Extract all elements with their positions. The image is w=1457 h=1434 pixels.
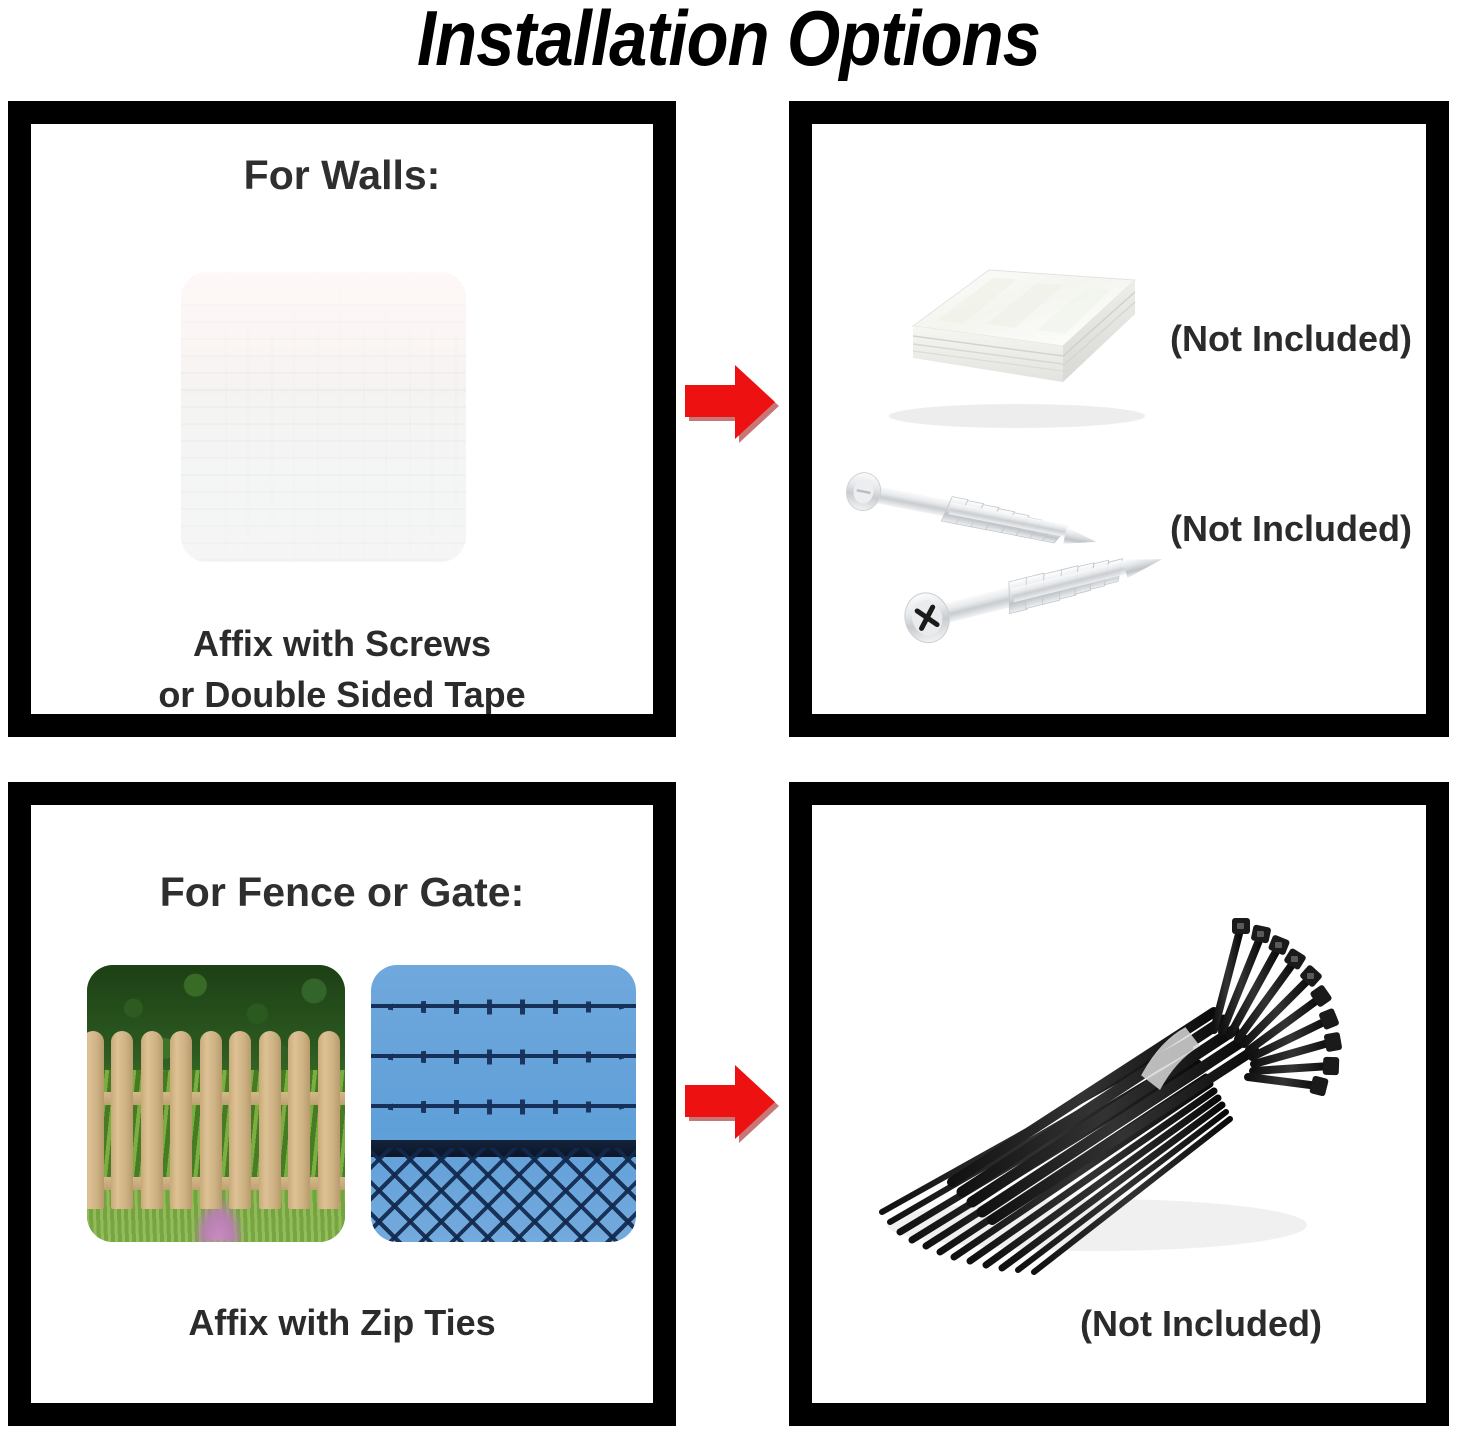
- wooden-picket-fence-photo: [87, 965, 345, 1242]
- panel-fence-hardware: (Not Included): [789, 782, 1449, 1426]
- zip-ties-bundle-image: [842, 880, 1362, 1280]
- panel-for-walls-heading: For Walls:: [31, 152, 653, 199]
- zipties-not-included-label: (Not Included): [1080, 1303, 1322, 1345]
- panel-wall-hardware: (Not Included): [789, 101, 1449, 737]
- panel-for-fence-caption: Affix with Zip Ties: [31, 1297, 653, 1348]
- page-title: Installation Options: [87, 0, 1369, 82]
- infographic-root: Installation Options For Walls: Affix wi…: [0, 0, 1457, 1434]
- panel-for-fence-heading: For Fence or Gate:: [31, 869, 653, 916]
- red-right-arrow-icon-bottom: [685, 1065, 783, 1147]
- tape-not-included-label: (Not Included): [1170, 318, 1412, 360]
- panel-for-walls-caption-line-2: or Double Sided Tape: [31, 669, 653, 714]
- red-right-arrow-icon-top: [685, 365, 783, 447]
- screws-not-included-label: (Not Included): [1170, 508, 1412, 550]
- panel-for-fence-or-gate: For Fence or Gate:: [8, 782, 676, 1426]
- barbed-wire-chain-link-photo: [371, 965, 636, 1242]
- wood-screws-image: [830, 449, 1170, 679]
- panel-for-walls-caption-line-1: Affix with Screws: [31, 618, 653, 669]
- white-brick-wall-photo: [181, 272, 466, 562]
- double-sided-tape-stack-image: [867, 254, 1157, 434]
- panel-for-walls: For Walls: Affix with Screws or Double S…: [8, 101, 676, 737]
